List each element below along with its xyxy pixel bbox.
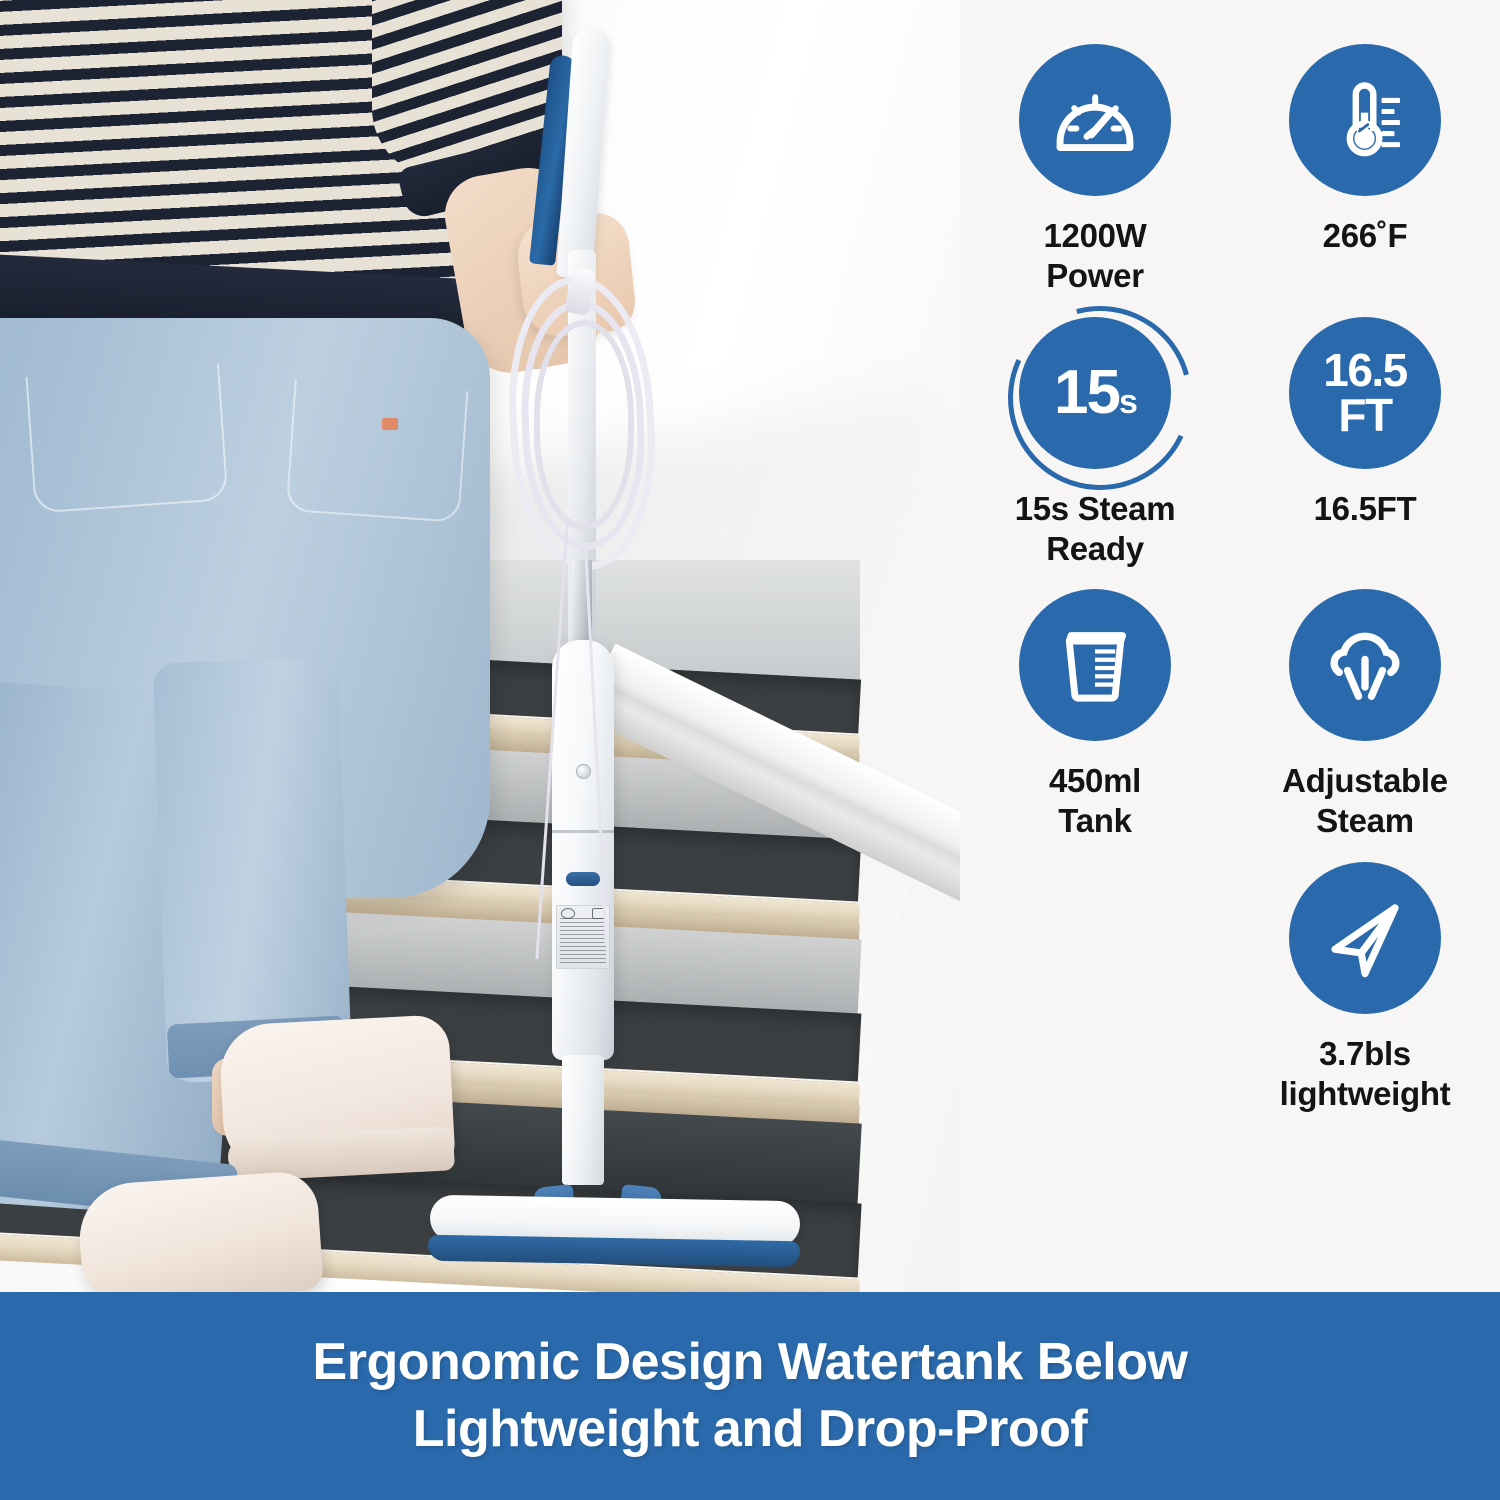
mop-body-screw xyxy=(576,764,591,779)
steam-cloud-icon-circle xyxy=(1289,589,1441,741)
steam-cloud-icon xyxy=(1319,619,1411,711)
feature-item-temperature: 266˚F xyxy=(1230,40,1500,307)
feature-item-cord-length: 16.5FT 16.5FT xyxy=(1230,313,1500,580)
feature-item-tank: 450ml Tank xyxy=(960,585,1230,852)
feature-label: Adjustable Steam xyxy=(1282,761,1448,842)
product-lifestyle-photo xyxy=(0,0,960,1292)
feature-item-steam-ready: 15s 15s Steam Ready xyxy=(960,313,1230,580)
banner-headline-line1: Ergonomic Design Watertank Below xyxy=(313,1329,1188,1396)
thermometer-icon-circle xyxy=(1289,44,1441,196)
timer-ring-icon-circle: 15s xyxy=(1019,317,1171,469)
cord-length-badge-text: 16.5FT xyxy=(1323,348,1407,436)
feature-label: 1200W Power xyxy=(1043,216,1146,297)
mop-microfiber-pad xyxy=(428,1235,800,1267)
paper-plane-icon xyxy=(1318,891,1412,985)
feature-label: 450ml Tank xyxy=(1049,761,1141,842)
feature-item-power: 1200W Power xyxy=(960,40,1230,307)
jeans-pocket-left xyxy=(25,363,228,513)
feature-label: 266˚F xyxy=(1323,216,1408,256)
power-cord-coil xyxy=(534,320,634,530)
gauge-icon xyxy=(1049,74,1141,166)
feature-label: 16.5FT xyxy=(1314,489,1417,529)
sneaker-lower-step xyxy=(76,1170,324,1292)
feature-item-weight: 3.7bls lightweight xyxy=(1230,858,1500,1125)
certification-mark-icon xyxy=(561,908,575,919)
jeans-brand-tag xyxy=(382,418,398,430)
steam-mop xyxy=(480,0,860,1292)
measuring-cup-icon-circle xyxy=(1019,589,1171,741)
feature-label: 15s Steam Ready xyxy=(1015,489,1176,570)
bottom-banner: Ergonomic Design Watertank Below Lightwe… xyxy=(0,1292,1500,1500)
feature-label: 3.7bls lightweight xyxy=(1280,1034,1451,1115)
cord-length-icon-circle: 16.5FT xyxy=(1289,317,1441,469)
measuring-cup-icon xyxy=(1049,619,1141,711)
banner-headline-line2: Lightweight and Drop-Proof xyxy=(413,1396,1087,1463)
mop-body-seam xyxy=(552,830,614,833)
timer-ring-arc-icon xyxy=(974,272,1225,523)
product-infographic: 1200W Power xyxy=(0,0,1500,1500)
steam-control-button[interactable] xyxy=(566,872,600,886)
mop-body-watertank xyxy=(552,640,614,1060)
feature-list: 1200W Power xyxy=(960,0,1500,1292)
jeans-pocket-right xyxy=(286,379,469,523)
feature-grid: 1200W Power xyxy=(960,40,1500,1124)
feature-item-adjustable-steam: Adjustable Steam xyxy=(1230,585,1500,852)
product-rating-label xyxy=(556,905,610,969)
thermometer-icon xyxy=(1319,74,1411,166)
mop-neck xyxy=(562,1055,604,1185)
paper-plane-icon-circle xyxy=(1289,862,1441,1014)
gauge-icon-circle xyxy=(1019,44,1171,196)
